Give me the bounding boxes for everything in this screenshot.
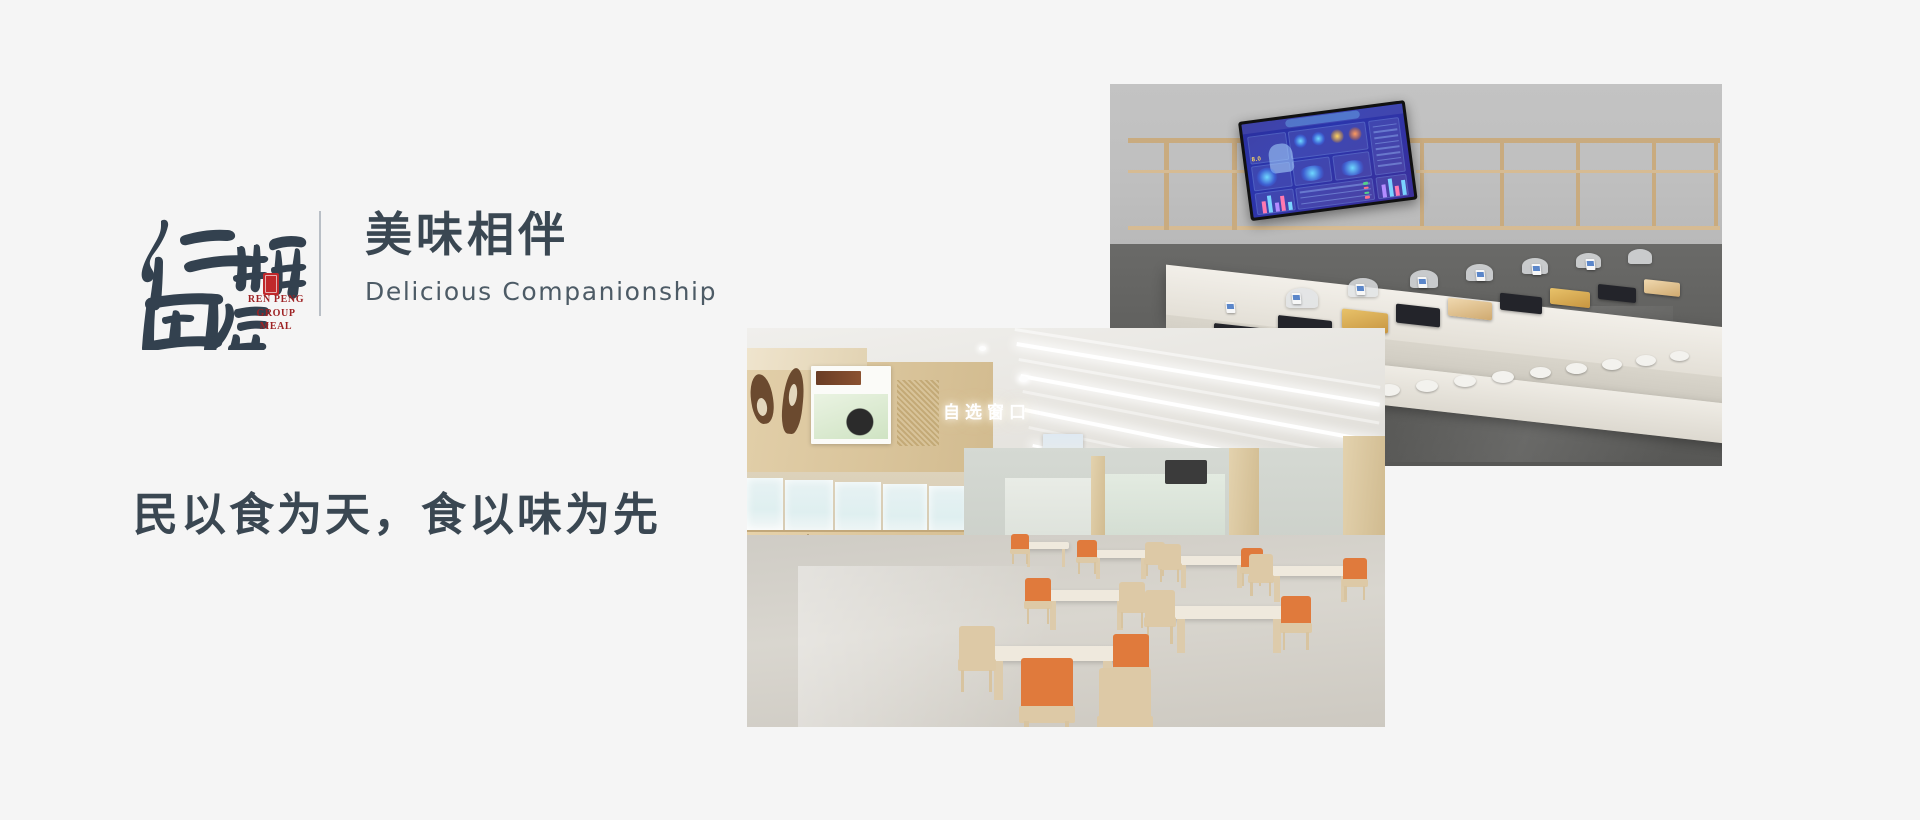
dining-chair — [1145, 590, 1175, 644]
poster-brand-bar — [816, 371, 861, 385]
photo-cafeteria-interior: 自选窗口 — [747, 328, 1385, 727]
dining-table — [1175, 556, 1247, 565]
tagline-english: Delicious Companionship — [365, 277, 717, 306]
dining-chair — [1281, 596, 1311, 650]
decorative-mesh-panel — [897, 380, 939, 446]
dining-table — [1043, 590, 1129, 601]
brand-block: REN PENG GROUP MEAL 美味相伴 Delicious Compa… — [133, 205, 717, 350]
dining-table — [1167, 606, 1287, 619]
logo-en-line2: GROUP — [241, 307, 311, 321]
page-headline: 民以食为天，食以味为先 — [133, 478, 661, 543]
wall-tv-icon — [1165, 460, 1207, 484]
tagline-block: 美味相伴 Delicious Companionship — [365, 205, 717, 306]
brand-logo-en: REN PENG GROUP MEAL — [241, 293, 311, 334]
brand-divider — [319, 211, 321, 316]
dining-table — [1023, 542, 1069, 549]
dining-chair — [1011, 534, 1029, 564]
dining-chair — [1159, 544, 1181, 582]
dining-chair — [1025, 578, 1051, 624]
counter-sign-text: 自选窗口 — [943, 398, 1031, 423]
menu-poster-sign — [811, 366, 891, 444]
dashboard-metric: 8.0 — [1251, 156, 1261, 163]
logo-en-line1: REN PENG — [241, 293, 311, 307]
dining-chair-foreground — [1099, 668, 1151, 727]
wood-pergola — [1128, 130, 1720, 252]
hero-banner: REN PENG GROUP MEAL 美味相伴 Delicious Compa… — [0, 0, 1920, 820]
poster-food-image — [814, 394, 888, 439]
dining-chair — [1249, 554, 1273, 596]
dining-chair — [959, 626, 995, 692]
tagline-chinese: 美味相伴 — [365, 211, 717, 262]
dashboard-screen: 8.0 — [1241, 103, 1414, 217]
brand-logo: REN PENG GROUP MEAL — [133, 205, 308, 350]
dining-chair — [1343, 558, 1367, 600]
dining-table — [1091, 550, 1151, 558]
dining-chair — [1119, 582, 1145, 628]
red-seal-icon — [263, 273, 279, 295]
dining-chair — [1077, 540, 1097, 574]
logo-en-line3: MEAL — [241, 320, 311, 334]
dining-chair-foreground — [1021, 658, 1073, 727]
dining-table — [1267, 566, 1353, 576]
